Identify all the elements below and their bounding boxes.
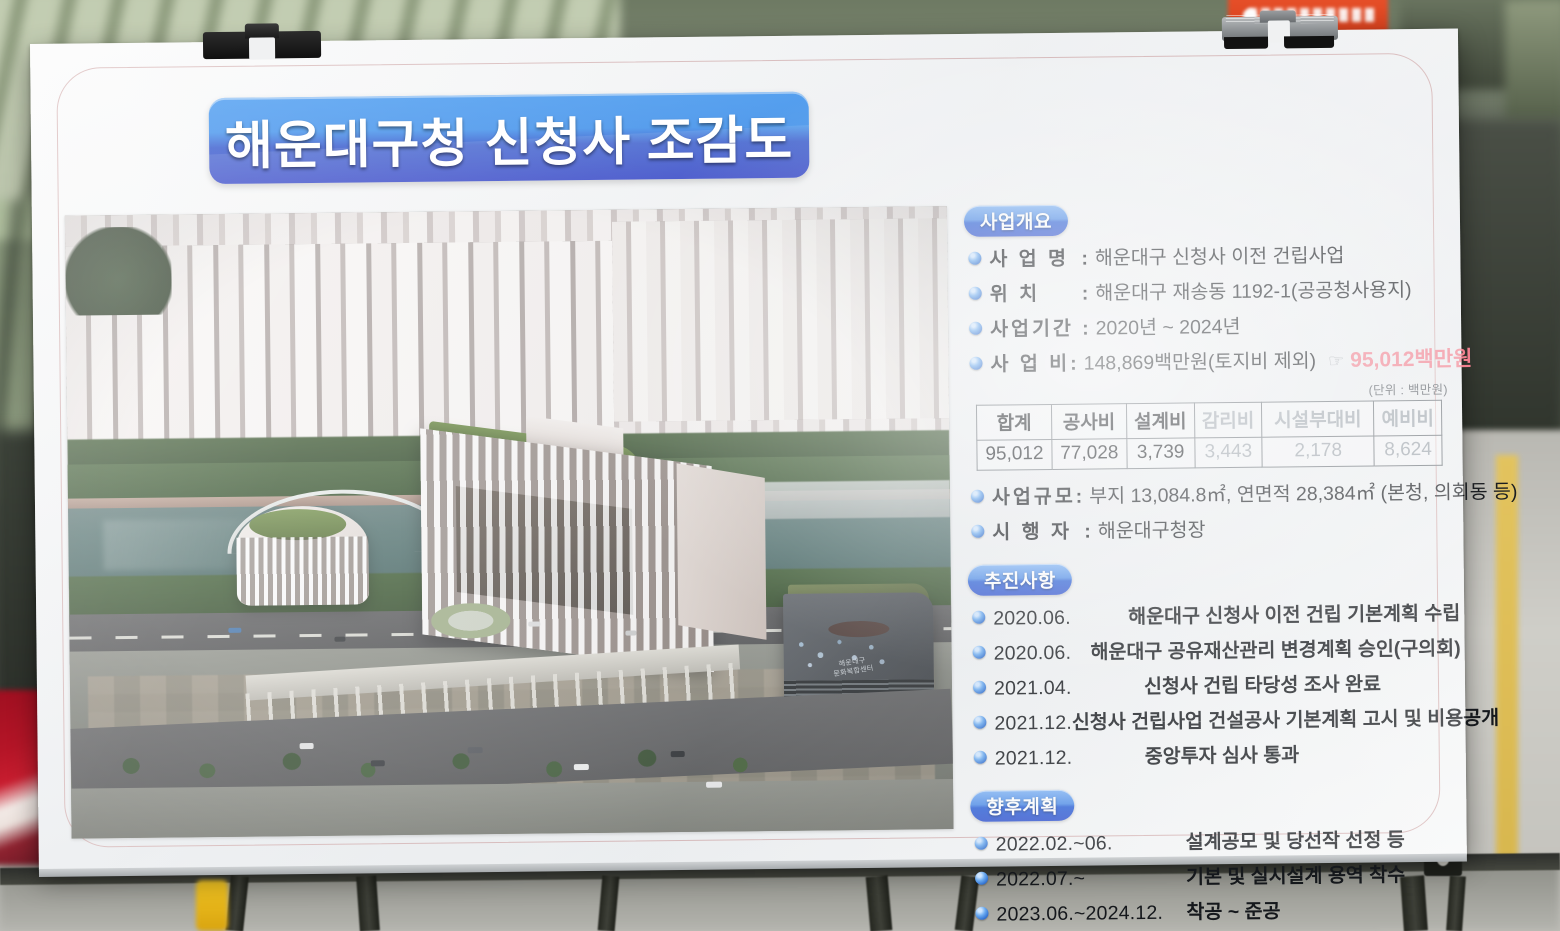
progress-text: 해운대구 신청사 이전 건립 기본계획 수립 [1128, 597, 1460, 630]
background-panel-c [1448, 120, 1560, 450]
future-date: 2023.06.~2024.12. [996, 902, 1186, 927]
easel-leg [356, 875, 380, 931]
photo-car [468, 747, 483, 753]
progress-date: 2021.12. [995, 746, 1145, 771]
table-header-cell: 예비비 [1374, 400, 1442, 436]
table-cell: 95,012 [977, 439, 1052, 470]
overview-value: 148,869백만원(토지비 제외) [1083, 344, 1316, 376]
overview-value: 부지 13,084.8㎡, 연면적 28,384㎡ (본청, 의회동 등) [1089, 475, 1518, 509]
future-date: 2022.07.~ [996, 867, 1186, 892]
table-header-cell: 시설부대비 [1262, 401, 1374, 437]
bullet-icon [969, 287, 982, 300]
bullet-icon [968, 252, 981, 265]
presentation-board: 해운대구청 신청사 조감도 [30, 29, 1467, 870]
board-clip-right [1222, 10, 1338, 49]
progress-text: 신청사 건립 타당성 조사 완료 [1144, 667, 1381, 699]
overview-separator: : [1070, 353, 1077, 376]
overview-row-operator: 시 행 자 : 해운대구청장 [971, 511, 1459, 545]
photo-car [625, 630, 636, 635]
badge-overview: 사업개요 [964, 205, 1068, 237]
overview-label: 시 행 자 [992, 515, 1084, 545]
table-header-cell: 공사비 [1051, 404, 1126, 440]
photo-car [300, 743, 314, 749]
overview-separator: : [1081, 248, 1088, 271]
overview-budget-highlight: 95,012백만원 [1350, 342, 1473, 373]
progress-date: 2020.06. [993, 606, 1128, 630]
progress-item: 2020.06. 해운대구 신청사 이전 건립 기본계획 수립 [972, 597, 1460, 631]
info-column: 사업개요 사 업 명 : 해운대구 신청사 이전 건립사업 위 치 : 해운대구… [964, 201, 1463, 846]
overview-label: 위 치 [990, 277, 1082, 307]
future-text: 착공 ~ 준공 [1186, 895, 1280, 925]
future-item: 2023.06.~2024.12. 착공 ~ 준공 [975, 893, 1463, 927]
table-header-cell: 합계 [976, 404, 1051, 440]
overview-separator: : [1076, 486, 1083, 509]
bullet-icon [974, 751, 987, 764]
photo-hillside-trees [65, 227, 172, 315]
yellow-tassel [196, 880, 228, 931]
bullet-icon [975, 907, 988, 920]
overview-value: 해운대구청장 [1098, 513, 1206, 543]
title-banner: 해운대구청 신청사 조감도 [209, 92, 810, 184]
bullet-icon [971, 490, 984, 503]
overview-label: 사 업 명 [989, 242, 1081, 272]
photo-car [574, 764, 589, 770]
section-overview: 사업개요 사 업 명 : 해운대구 신청사 이전 건립사업 위 치 : 해운대구… [964, 201, 1460, 545]
table-unit-note: (단위 : 백만원) [966, 379, 1448, 403]
table-cell: 2,178 [1262, 436, 1374, 467]
progress-text: 해운대구 공유재산관리 변경계획 승인(구의회) [1090, 632, 1460, 665]
table-header-cell: 설계비 [1126, 403, 1194, 439]
overview-separator: : [1084, 521, 1091, 544]
bullet-icon [969, 357, 982, 370]
photo-car [670, 751, 684, 757]
bullet-icon [975, 837, 988, 850]
overview-separator: : [1082, 318, 1089, 341]
table-cell: 3,739 [1127, 438, 1195, 469]
table-cell: 77,028 [1052, 439, 1127, 470]
table-cell: 3,443 [1194, 437, 1262, 468]
overview-row-budget: 사 업 비 : 148,869백만원(토지비 제외) ☞ 95,012백만원 [969, 343, 1457, 378]
table-header-row: 합계 공사비 설계비 감리비 시설부대비 예비비 [976, 400, 1441, 440]
overview-value: 해운대구 재송동 1192-1(공공청사용지) [1095, 273, 1412, 305]
cost-table: 합계 공사비 설계비 감리비 시설부대비 예비비 95,012 77,028 3 [976, 400, 1443, 471]
badge-progress: 추진사항 [968, 564, 1072, 596]
future-item: 2022.02.~06. 설계공모 및 당선작 선정 등 [975, 823, 1463, 857]
photo-car [528, 622, 540, 627]
bullet-icon [971, 525, 984, 538]
photo-car [228, 628, 241, 633]
overview-value: 해운대구 신청사 이전 건립사업 [1095, 239, 1345, 271]
table-cell: 8,624 [1374, 435, 1442, 466]
photo-car [371, 760, 385, 766]
overview-row-scale: 사업규모 : 부지 13,084.8㎡, 연면적 28,384㎡ (본청, 의회… [971, 476, 1459, 510]
overview-separator: : [1082, 283, 1089, 306]
aerial-rendering-photo: 해운대구 문화복합센터 [65, 206, 954, 839]
bullet-icon [969, 322, 982, 335]
progress-date: 2021.12. [994, 712, 1072, 736]
background-panel-b [1505, 0, 1560, 120]
scene: 해운대구청 신청사 조감도 [0, 0, 1560, 931]
future-text: 설계공모 및 당선작 선정 등 [1186, 823, 1405, 854]
photo-main-side-wing [676, 463, 766, 640]
bullet-icon [973, 681, 986, 694]
photo-apartments-right [612, 219, 949, 422]
easel-leg [866, 875, 893, 931]
section-progress: 추진사항 2020.06. 해운대구 신청사 이전 건립 기본계획 수립 202… [968, 560, 1462, 771]
progress-item: 2020.06. 해운대구 공유재산관리 변경계획 승인(구의회) [972, 632, 1460, 666]
badge-future: 향후계획 [970, 790, 1074, 822]
page-title: 해운대구청 신청사 조감도 [225, 97, 794, 178]
bullet-icon [975, 872, 988, 885]
bullet-icon [973, 716, 986, 729]
photo-west-wing-facade [236, 536, 369, 606]
overview-label: 사업규모 [992, 480, 1076, 510]
progress-item: 2021.12. 중앙투자 심사 통과 [974, 737, 1462, 771]
photo-sidewalk [71, 779, 953, 838]
board-clip-left [203, 23, 321, 60]
background-tactile-paving [1496, 455, 1518, 895]
progress-item: 2021.04. 신청사 건립 타당성 조사 완료 [973, 667, 1461, 701]
overview-row-period: 사업기간 : 2020년 ~ 2024년 [969, 308, 1457, 342]
progress-text: 신청사 건립사업 건설공사 기본계획 고시 및 비용공개 [1072, 701, 1499, 735]
overview-label: 사 업 비 [990, 347, 1070, 377]
overview-label: 사업기간 [990, 312, 1082, 342]
photo-car [706, 782, 722, 788]
future-date: 2022.02.~06. [996, 832, 1186, 857]
bullet-icon [973, 646, 986, 659]
progress-date: 2021.04. [994, 676, 1144, 701]
table-header-cell: 감리비 [1194, 402, 1262, 438]
overview-value: 2020년 ~ 2024년 [1095, 310, 1240, 341]
bullet-icon [972, 611, 985, 624]
progress-date: 2020.06. [994, 642, 1091, 666]
pointing-hand-icon: ☞ [1328, 351, 1344, 372]
progress-text: 중앙투자 심사 통과 [1145, 738, 1300, 769]
photo-car [334, 636, 345, 641]
table-row: 95,012 77,028 3,739 3,443 2,178 8,624 [977, 435, 1442, 470]
progress-item: 2021.12. 신청사 건립사업 건설공사 기본계획 고시 및 비용공개 [973, 702, 1461, 736]
overview-row-location: 위 치 : 해운대구 재송동 1192-1(공공청사용지) [969, 273, 1457, 307]
overview-row-project-name: 사 업 명 : 해운대구 신청사 이전 건립사업 [968, 238, 1456, 272]
